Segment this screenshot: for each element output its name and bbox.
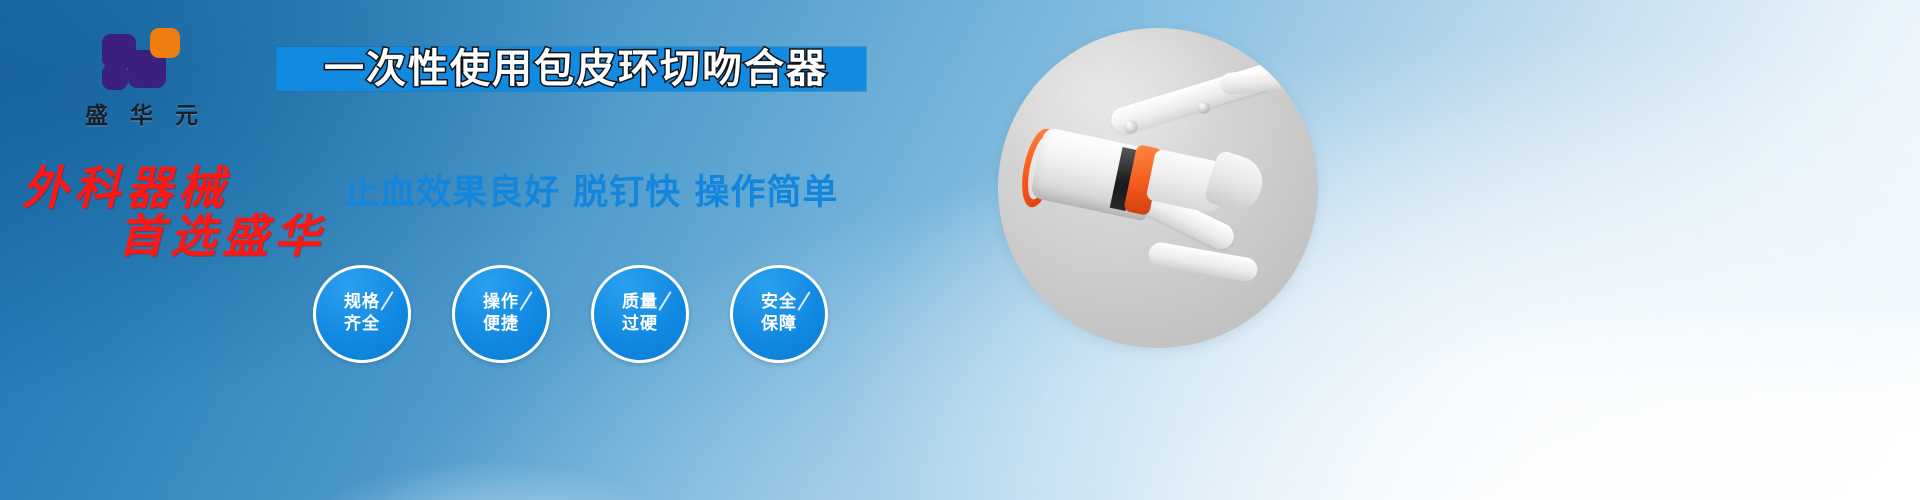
feature-badge-line2: 保障 [761, 314, 797, 336]
feature-badge-line2: 过硬 [622, 314, 658, 336]
slogan-line-2: 首选盛华 [118, 200, 326, 266]
feature-badge-line2: 齐全 [344, 314, 380, 336]
page-title: 一次性使用包皮环切吻合器 [286, 45, 866, 93]
feature-badge-line1: 规格 [344, 292, 380, 314]
feature-badge-line1: 质量 [622, 292, 658, 314]
brand-logo[interactable]: 盛 华 元 [60, 28, 230, 128]
feature-badge-safety[interactable]: 安全 保障 [730, 265, 828, 363]
brand-name: 盛 华 元 [60, 96, 230, 130]
slash-decoration-icon [658, 291, 671, 311]
feature-badge-operation[interactable]: 操作 便捷 [452, 265, 550, 363]
feature-badge-quality[interactable]: 质量 过硬 [591, 265, 689, 363]
photo-gloss-overlay [998, 28, 1318, 348]
feature-badge-line1: 安全 [761, 292, 797, 314]
promo-banner: 盛 华 元 一次性使用包皮环切吻合器 外科器械 首选盛华 止血效果良好 脱钉快 … [0, 0, 1920, 500]
logo-square-orange [150, 28, 180, 58]
slash-decoration-icon [380, 291, 393, 311]
logo-mark-icon [102, 28, 188, 90]
feature-badge-line1: 操作 [483, 292, 519, 314]
background-arc [300, 460, 680, 500]
subtitle: 止血效果良好 脱钉快 操作简单 [344, 164, 838, 215]
slash-decoration-icon [797, 291, 810, 311]
feature-badge-line2: 便捷 [483, 314, 519, 336]
logo-square-purple-3 [102, 64, 128, 90]
feature-badge-specification[interactable]: 规格 齐全 [313, 265, 411, 363]
product-photo [998, 28, 1318, 348]
slash-decoration-icon [519, 291, 532, 311]
